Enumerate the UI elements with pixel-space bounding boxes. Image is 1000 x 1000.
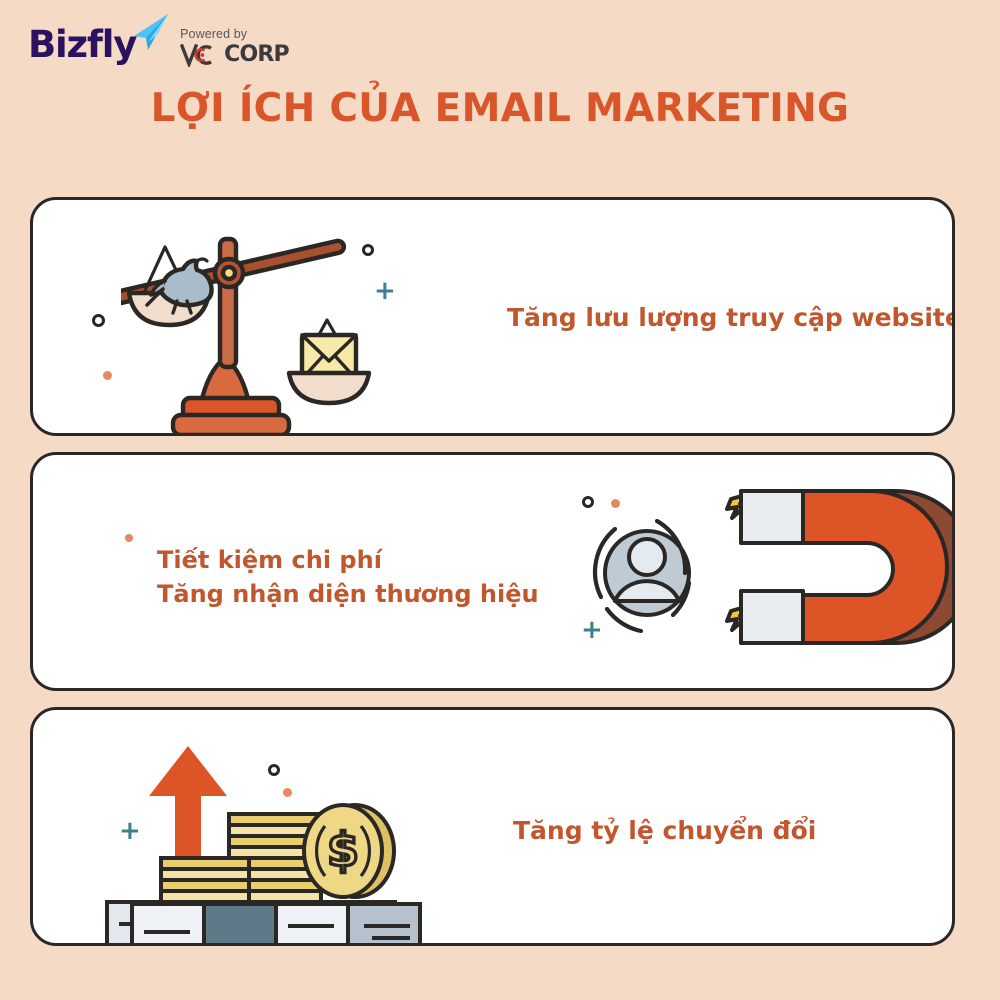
bizfly-logo: Bizfly: [28, 26, 136, 63]
balance-scale-bird-envelope-illustration: [121, 223, 411, 433]
vccorp-logo: CORP: [180, 43, 289, 67]
benefit-card-2[interactable]: + Tiết kiệm chi phí Tăng nhận diện: [30, 452, 955, 691]
vccorp-wordmark: CORP: [224, 44, 289, 66]
page-title: LỢI ÍCH CỦA EMAIL MARKETING: [0, 86, 1000, 131]
magnet-attracting-user-illustration: [571, 485, 955, 660]
brick-row-lower: [128, 900, 458, 946]
benefit-card-1[interactable]: +: [30, 197, 955, 436]
card-2-label-line2: Tăng nhận diện thương hiệu: [157, 577, 539, 611]
benefit-card-3[interactable]: +: [30, 707, 955, 946]
deco-ring-icon: [92, 314, 105, 327]
card-2-label-line1: Tiết kiệm chi phí: [157, 543, 539, 577]
powered-by-label: Powered by: [180, 28, 247, 42]
paper-plane-icon: [122, 12, 170, 52]
vccorp-mark-icon: [180, 43, 224, 67]
svg-text:$: $: [327, 823, 359, 877]
vccorp-block: Powered by CORP: [180, 28, 289, 67]
page-header: Bizfly Powered by CORP LỢI ÍCH CỦA EMAIL…: [0, 0, 1000, 150]
brand-logo-block: Bizfly Powered by CORP: [28, 26, 289, 67]
deco-dot-icon: [103, 371, 112, 380]
card-2-labels: Tiết kiệm chi phí Tăng nhận diện thương …: [157, 543, 539, 611]
bizfly-wordmark: Bizfly: [28, 26, 136, 63]
bullet-dot-icon: [125, 534, 133, 542]
card-1-label: Tăng lưu lượng truy cập website: [507, 300, 955, 336]
card-3-label: Tăng tỷ lệ chuyển đổi: [513, 813, 816, 849]
